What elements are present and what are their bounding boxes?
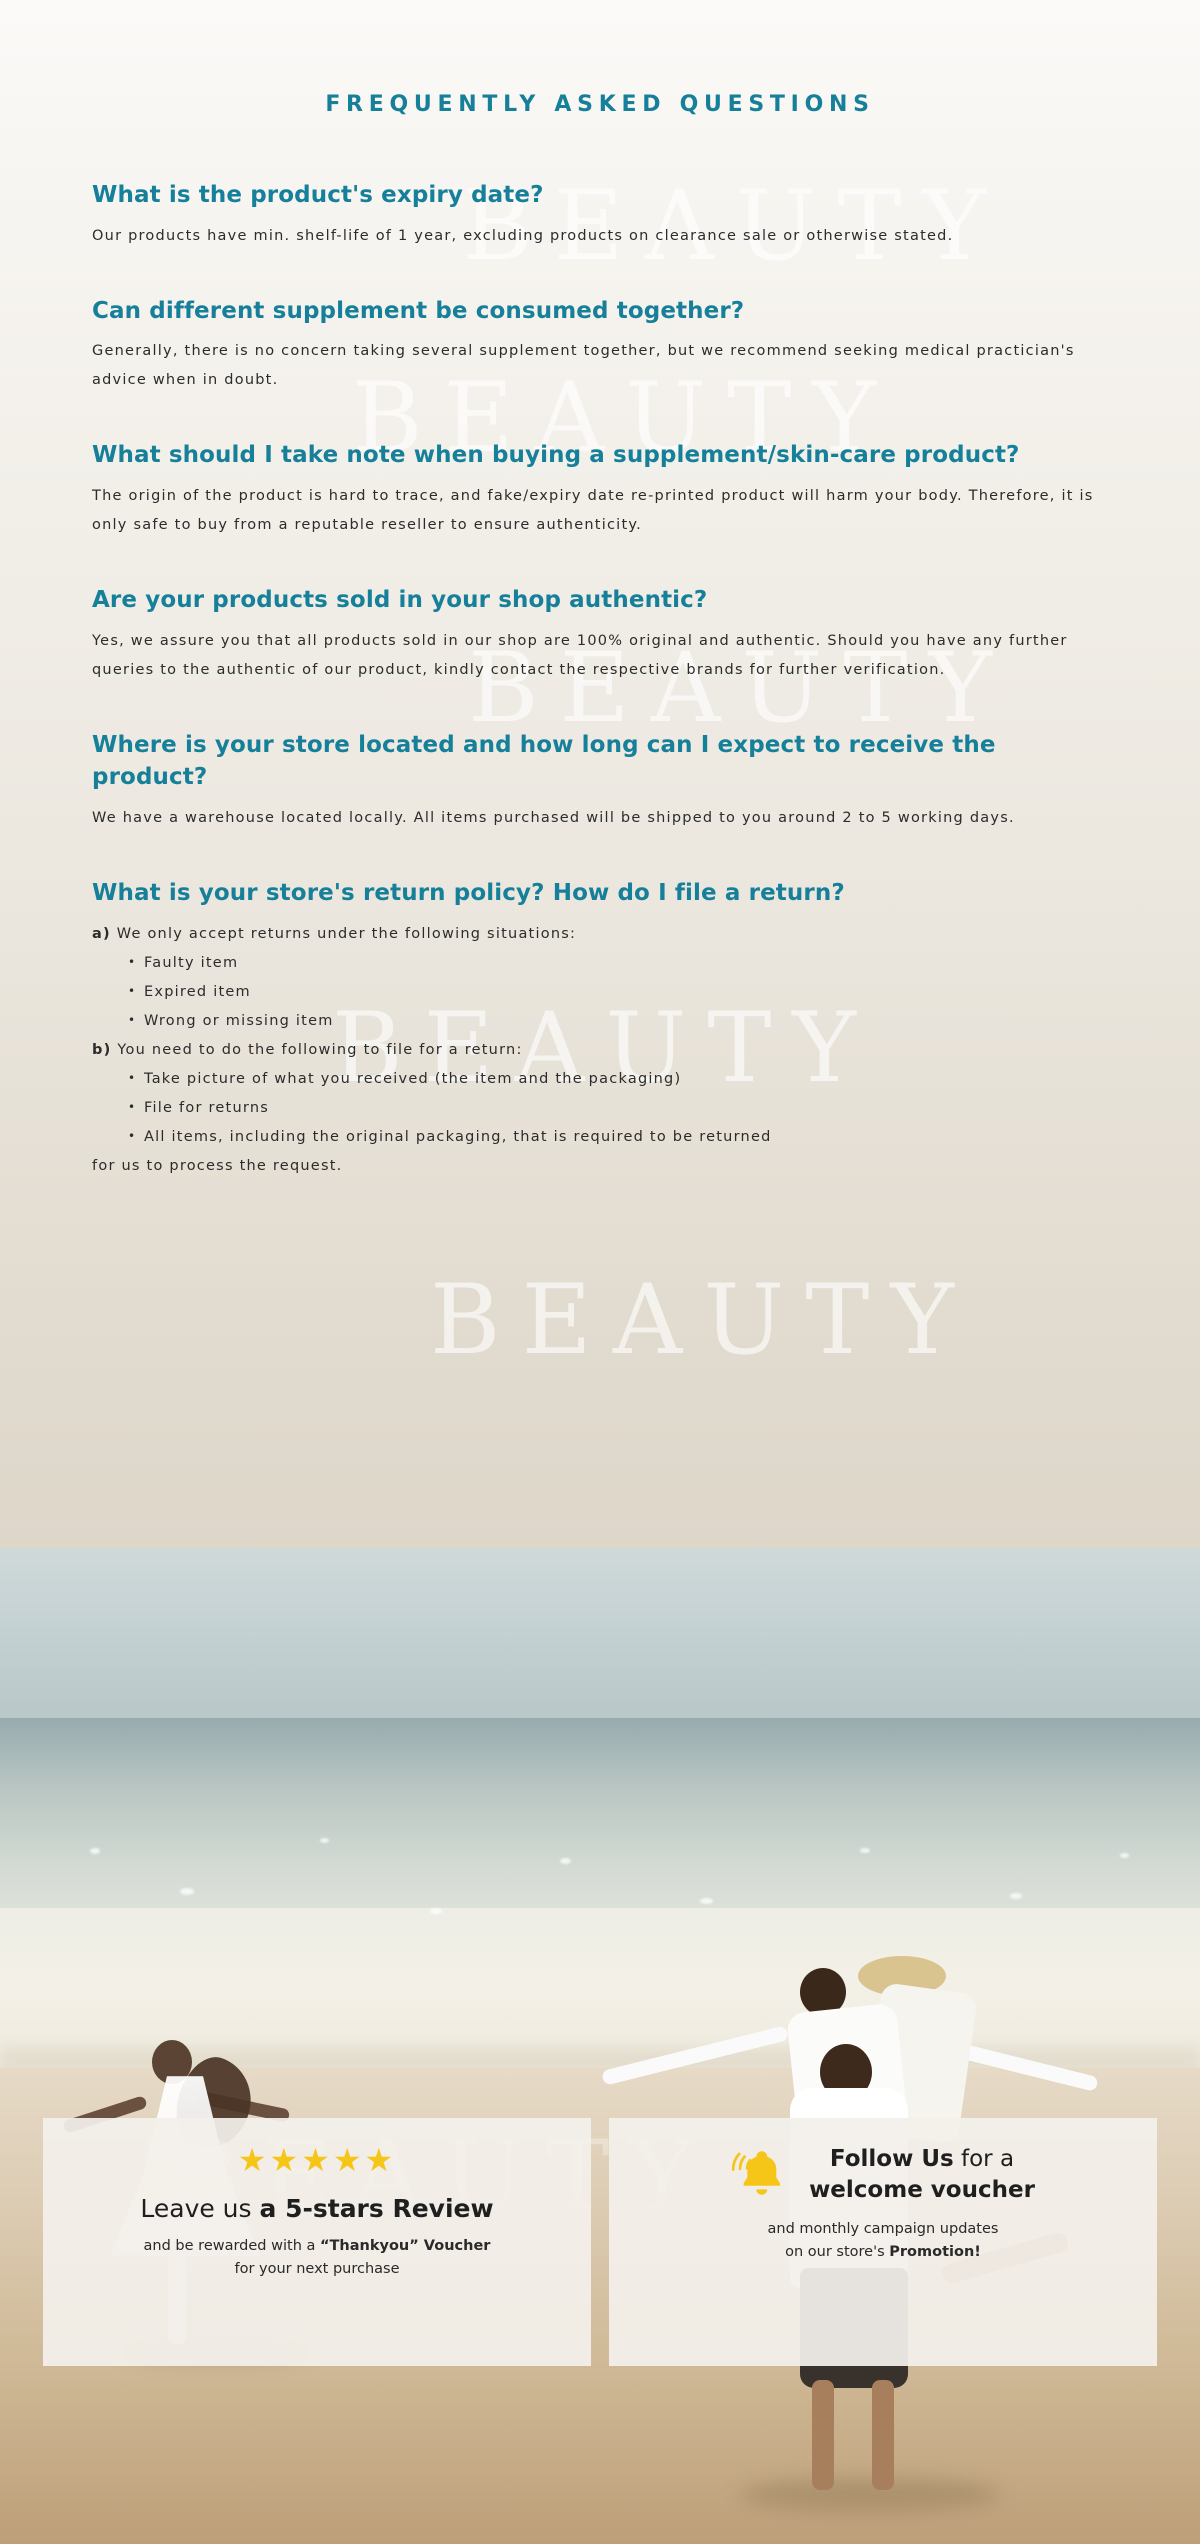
review-subtext: and be rewarded with a “Thankyou” Vouche…: [67, 2235, 567, 2282]
faq-answer: Our products have min. shelf-life of 1 y…: [92, 222, 1108, 251]
follow-headline-bold-1: Follow Us: [830, 2146, 954, 2172]
review-headline-bold: a 5-stars Review: [260, 2194, 494, 2223]
watermark-text: BEAUTY: [430, 1272, 975, 1368]
faq-answer: We have a warehouse located locally. All…: [92, 804, 1108, 833]
faq-section: BEAUTY BEAUTY BEAUTY BEAUTY BEAUTY FREQU…: [0, 0, 1200, 1548]
ground-shadow: [740, 2478, 1000, 2512]
faq-item-1: What is the product's expiry date? Our p…: [92, 179, 1108, 251]
returns-group-a-label: a): [92, 926, 111, 942]
review-subtext-line2: for your next purchase: [234, 2261, 399, 2277]
follow-card-body: Follow Us for a welcome voucher: [633, 2144, 1133, 2206]
list-item: Wrong or missing item: [128, 1007, 1108, 1036]
sun-glint: [560, 1858, 571, 1864]
list-item: All items, including the original packag…: [128, 1123, 1108, 1152]
faq-question: What is the product's expiry date?: [92, 179, 1108, 212]
faq-content: FREQUENTLY ASKED QUESTIONS What is the p…: [0, 0, 1200, 1181]
group-person-leg: [872, 2380, 894, 2490]
faq-question: What is your store's return policy? How …: [92, 877, 1108, 910]
faq-question: Can different supplement be consumed tog…: [92, 295, 1108, 328]
review-headline-plain: Leave us: [140, 2194, 259, 2223]
list-item: Take picture of what you received (the i…: [128, 1065, 1108, 1094]
follow-subtext: and monthly campaign updates on our stor…: [633, 2218, 1133, 2265]
sun-glint: [320, 1838, 329, 1843]
list-item: Expired item: [128, 978, 1108, 1007]
returns-closing-text: for us to process the request.: [92, 1152, 1108, 1181]
list-item: Faulty item: [128, 949, 1108, 978]
group-person-leg: [812, 2380, 834, 2490]
list-item: File for returns: [128, 1094, 1108, 1123]
follow-headline: Follow Us for a welcome voucher: [809, 2144, 1035, 2206]
sun-glint: [430, 1908, 442, 1914]
review-headline: Leave us a 5-stars Review: [67, 2192, 567, 2225]
sun-glint: [180, 1888, 194, 1895]
returns-group-b-text: You need to do the following to file for…: [117, 1042, 522, 1058]
five-stars-icon: ★★★★★: [67, 2144, 567, 2176]
follow-subtext-bold: Promotion!: [889, 2244, 981, 2260]
follow-subtext-line1: and monthly campaign updates: [768, 2221, 999, 2237]
returns-group-a-list: Faulty item Expired item Wrong or missin…: [92, 949, 1108, 1036]
faq-answer: Yes, we assure you that all products sol…: [92, 627, 1108, 685]
faq-answer: The origin of the product is hard to tra…: [92, 482, 1108, 540]
follow-headline-plain: for a: [954, 2146, 1014, 2172]
sun-glint: [1010, 1893, 1022, 1899]
faq-item-4: Are your products sold in your shop auth…: [92, 584, 1108, 685]
faq-item-3: What should I take note when buying a su…: [92, 439, 1108, 540]
faq-question: Are your products sold in your shop auth…: [92, 584, 1108, 617]
sun-glint: [90, 1848, 100, 1854]
faq-item-5: Where is your store located and how long…: [92, 729, 1108, 833]
faq-item-returns: What is your store's return policy? How …: [92, 877, 1108, 1181]
page-title: FREQUENTLY ASKED QUESTIONS: [92, 0, 1108, 117]
faq-page: BEAUTY BEAUTY BEAUTY BEAUTY BEAUTY FREQU…: [0, 0, 1200, 2544]
faq-question: What should I take note when buying a su…: [92, 439, 1108, 472]
faq-question: Where is your store located and how long…: [92, 729, 1108, 794]
returns-group-b-label: b): [92, 1042, 111, 1058]
follow-subtext-plain: on our store's: [785, 2244, 889, 2260]
follow-card[interactable]: Follow Us for a welcome voucher and mont…: [609, 2118, 1157, 2366]
returns-group-b: b) You need to do the following to file …: [92, 1036, 1108, 1065]
promo-cards: ★★★★★ Leave us a 5-stars Review and be r…: [0, 2118, 1200, 2366]
returns-group-b-list: Take picture of what you received (the i…: [92, 1065, 1108, 1152]
review-subtext-bold: “Thankyou” Voucher: [320, 2238, 490, 2254]
returns-group-a-text: We only accept returns under the followi…: [117, 926, 576, 942]
faq-answer: Generally, there is no concern taking se…: [92, 337, 1108, 395]
sun-glint: [1120, 1853, 1129, 1858]
faq-item-2: Can different supplement be consumed tog…: [92, 295, 1108, 396]
follow-headline-bold-2: welcome voucher: [809, 2177, 1035, 2203]
returns-group-a: a) We only accept returns under the foll…: [92, 920, 1108, 949]
sun-glint: [860, 1848, 870, 1853]
bell-icon: [731, 2144, 789, 2206]
sun-glint: [700, 1898, 713, 1904]
review-card[interactable]: ★★★★★ Leave us a 5-stars Review and be r…: [43, 2118, 591, 2366]
beach-photo: [0, 1548, 1200, 2544]
review-subtext-plain: and be rewarded with a: [144, 2238, 320, 2254]
